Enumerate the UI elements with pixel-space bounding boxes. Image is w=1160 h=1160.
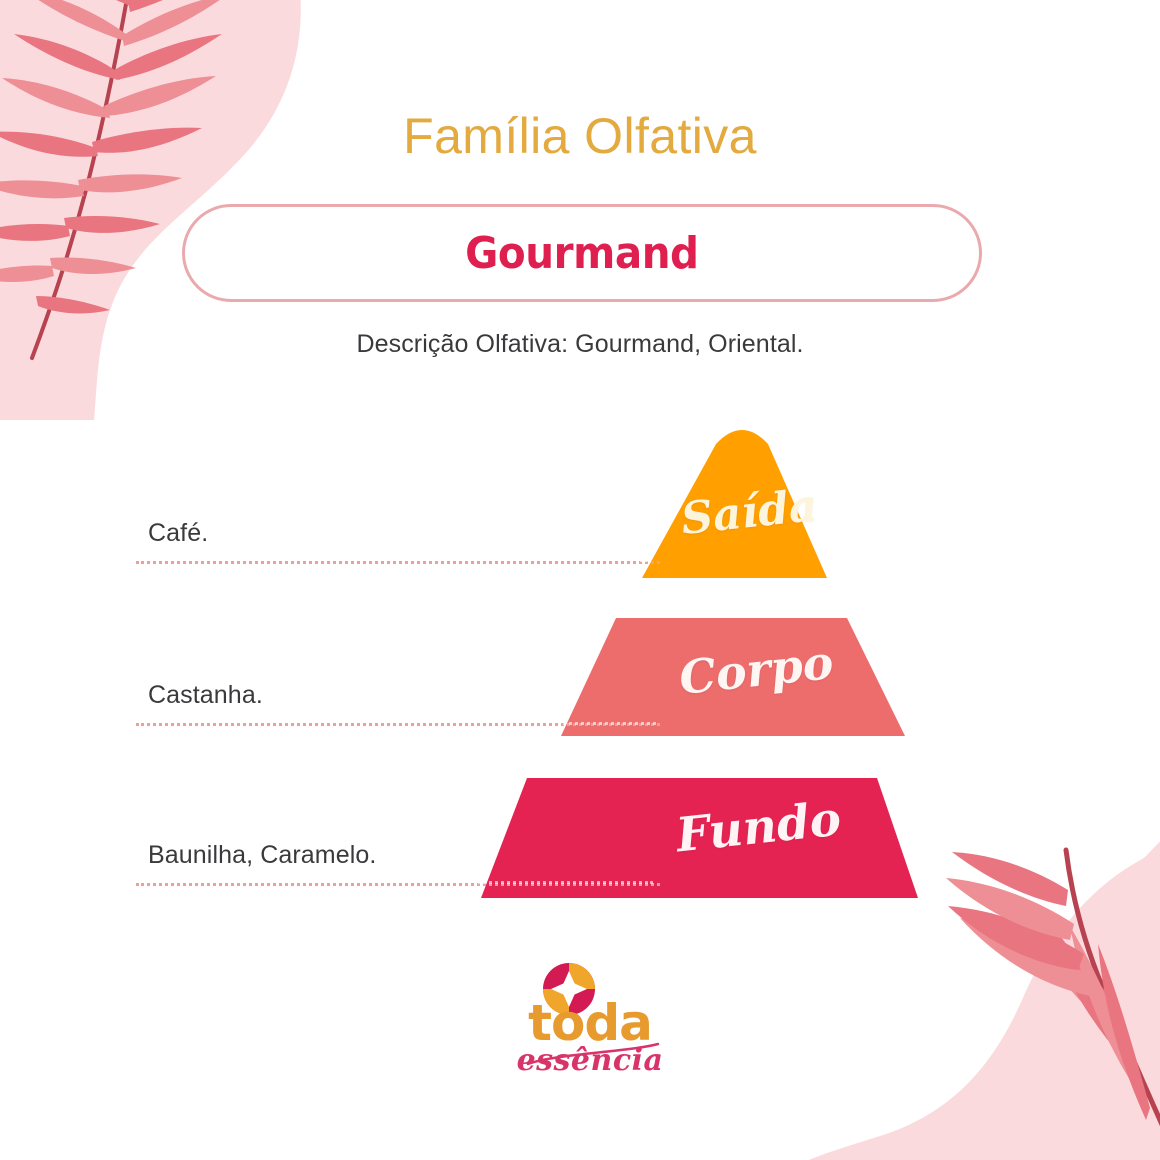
note-row-saida: Café. — [136, 500, 660, 564]
logo-script: essência — [510, 1046, 670, 1076]
note-label-saida: Café. — [148, 519, 208, 548]
note-row-corpo: Castanha. — [136, 662, 660, 726]
note-row-fundo: Baunilha, Caramelo. — [136, 822, 660, 886]
note-label-fundo: Baunilha, Caramelo. — [148, 841, 376, 870]
brand-logo: toda essência — [510, 962, 670, 1080]
logo-wordmark: toda — [510, 998, 670, 1048]
infographic-canvas: Família Olfativa Gourmand Descrição Olfa… — [0, 0, 1160, 1160]
note-label-corpo: Castanha. — [148, 681, 263, 710]
leader-line-overlay-saida — [640, 559, 648, 562]
leader-line-overlay-corpo — [558, 722, 656, 725]
leader-line-saida — [136, 561, 660, 564]
leader-line-overlay-fundo — [478, 881, 653, 884]
